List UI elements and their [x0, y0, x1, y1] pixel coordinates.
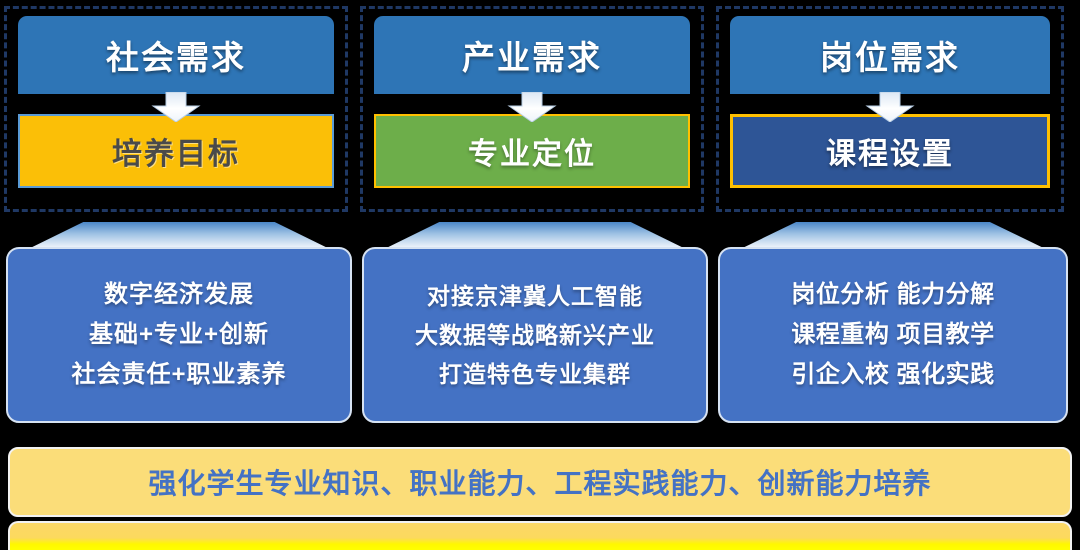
down-arrow-icon	[505, 92, 559, 122]
panel-line: 基础+专业+创新	[89, 323, 269, 347]
result-box-training-goal[interactable]: 培养目标	[18, 114, 334, 188]
demand-header-label: 社会需求	[106, 31, 246, 79]
summary-banner[interactable]: 强化学生专业知识、职业能力、工程实践能力、创新能力培养	[8, 447, 1072, 517]
secondary-banner	[8, 521, 1072, 550]
panel-line: 数字经济发展	[104, 283, 254, 307]
panel-line: 引企入校 强化实践	[791, 363, 994, 387]
result-box-major-positioning[interactable]: 专业定位	[374, 114, 690, 188]
demand-header-label: 产业需求	[462, 31, 602, 79]
content-panel-industry[interactable]: 对接京津冀人工智能 大数据等战略新兴产业 打造特色专业集群	[362, 247, 708, 423]
panel-line: 对接京津冀人工智能	[427, 285, 643, 308]
down-arrow-icon	[863, 92, 917, 122]
panel-line: 大数据等战略新兴产业	[415, 324, 655, 347]
panel-line: 社会责任+职业素养	[71, 363, 286, 387]
demand-header-position[interactable]: 岗位需求	[730, 16, 1050, 94]
panel-line: 岗位分析 能力分解	[791, 283, 994, 307]
result-box-label: 培养目标	[112, 129, 240, 173]
result-box-label: 课程设置	[826, 129, 954, 173]
result-box-curriculum[interactable]: 课程设置	[730, 114, 1050, 188]
demand-header-label: 岗位需求	[820, 31, 960, 79]
result-box-label: 专业定位	[468, 129, 596, 173]
demand-header-industry[interactable]: 产业需求	[374, 16, 690, 94]
demand-header-society[interactable]: 社会需求	[18, 16, 334, 94]
content-panel-position[interactable]: 岗位分析 能力分解 课程重构 项目教学 引企入校 强化实践	[718, 247, 1068, 423]
summary-banner-label: 强化学生专业知识、职业能力、工程实践能力、创新能力培养	[148, 462, 931, 502]
panel-line: 打造特色专业集群	[439, 363, 631, 386]
panel-line: 课程重构 项目教学	[791, 323, 994, 347]
down-arrow-icon	[149, 92, 203, 122]
diagram-canvas: 社会需求 培养目标 数字经济发展 基础+专业+创新 社会责任+职业素养 产业需求	[0, 0, 1080, 550]
content-panel-society[interactable]: 数字经济发展 基础+专业+创新 社会责任+职业素养	[6, 247, 352, 423]
